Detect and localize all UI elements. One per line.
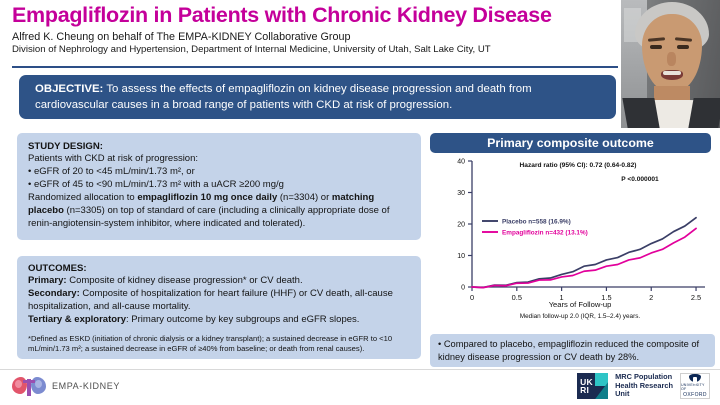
mrc-line-3: Unit [615, 390, 673, 399]
svg-text:20: 20 [457, 222, 465, 229]
svg-text:Placebo n=558 (16.9%): Placebo n=558 (16.9%) [502, 219, 571, 226]
chart-legend: Placebo n=558 (16.9%)Empagliflozin n=432… [482, 219, 588, 237]
kidney-icon [12, 375, 46, 397]
svg-text:2.5: 2.5 [691, 293, 701, 302]
summary-text: • Compared to placebo, empagliflozin red… [438, 339, 699, 362]
slide-header: Empagliflozin in Patients with Chronic K… [12, 4, 620, 55]
x-axis-label: Years of Follow-up [549, 300, 612, 309]
outcome-tertiary: Tertiary & exploratory: Primary outcome … [28, 314, 410, 327]
footer-logos: UK RI MRC Population Health Research Uni… [577, 373, 710, 399]
study-design-allocation: Randomized allocation to empagliflozin 1… [28, 192, 410, 231]
chart-series [472, 218, 696, 288]
page-title: Empagliflozin in Patients with Chronic K… [12, 4, 620, 27]
summary-panel: • Compared to placebo, empagliflozin red… [430, 334, 715, 367]
ukri-wordmark: UK RI [580, 378, 593, 394]
alloc-drug: empagliflozin 10 mg once daily [137, 192, 277, 203]
presenter-video-feed[interactable] [621, 0, 720, 128]
outcomes-footnote: *Defined as ESKD (initiation of chronic … [28, 334, 410, 354]
author-line: Alfred K. Cheung on behalf of The EMPA-K… [12, 31, 620, 44]
oxford-wordmark: OXFORD [683, 392, 707, 398]
objective-label: OBJECTIVE: [35, 83, 103, 95]
hazard-ratio-annotation: Hazard ratio (95% CI): 0.72 (0.64-0.82) [520, 162, 637, 169]
title-divider [12, 66, 618, 68]
oxford-crest-icon [689, 374, 701, 382]
median-followup-label: Median follow-up 2.0 (IQR, 1.5–2.4) year… [520, 313, 641, 320]
study-design-heading: STUDY DESIGN: [28, 141, 410, 152]
presenter-jacket-left [622, 98, 659, 128]
alloc-mid: (n=3304) or [277, 192, 332, 203]
study-design-bullet-2: • eGFR of 45 to <90 mL/min/1.73 m² with … [28, 179, 410, 192]
primary-outcome-banner: Primary composite outcome [430, 133, 711, 153]
oxford-sub-label: UNIVERSITY OF [681, 383, 709, 391]
outcome-tertiary-label: Tertiary & exploratory [28, 314, 126, 325]
mrc-unit-label: MRC Population Health Research Unit [615, 373, 673, 399]
svg-text:0: 0 [470, 293, 474, 302]
presenter-eye-left [650, 45, 662, 49]
presenter-jacket-right [688, 98, 720, 128]
alloc-pre: Randomized allocation to [28, 192, 137, 203]
svg-text:0: 0 [461, 285, 465, 292]
oxford-university-logo: UNIVERSITY OF OXFORD [680, 373, 710, 399]
svg-text:10: 10 [457, 253, 465, 260]
svg-text:2: 2 [649, 293, 653, 302]
objective-banner: OBJECTIVE: To assess the effects of empa… [19, 75, 616, 119]
outcomes-heading: OUTCOMES: [28, 263, 410, 274]
p-value-annotation: P <0.000001 [621, 176, 659, 183]
ukri-line-2: RI [580, 386, 593, 394]
outcome-primary: Primary: Composite of kidney disease pro… [28, 275, 410, 288]
slide: Empagliflozin in Patients with Chronic K… [0, 0, 720, 405]
objective-text: To assess the effects of empagliflozin o… [35, 83, 532, 111]
study-design-intro: Patients with CKD at risk of progression… [28, 153, 410, 166]
chart-svg: 010203040 00.511.522.5 Placebo n=558 (16… [430, 155, 715, 325]
kaplan-meier-chart: 010203040 00.511.522.5 Placebo n=558 (16… [430, 155, 715, 325]
svg-text:40: 40 [457, 159, 465, 166]
y-axis-ticks: 010203040 [457, 159, 472, 292]
alloc-post: (n=3305) on top of standard of care (inc… [28, 205, 389, 229]
footer-divider [0, 369, 720, 370]
outcome-secondary-text: Composite of hospitalization for heart f… [28, 288, 393, 312]
ukri-logo: UK RI [577, 373, 608, 399]
outcomes-panel: OUTCOMES: Primary: Composite of kidney d… [17, 256, 421, 359]
svg-text:0.5: 0.5 [512, 293, 522, 302]
svg-text:Empagliflozin n=432 (13.1%): Empagliflozin n=432 (13.1%) [502, 230, 588, 237]
presenter-eye-right [677, 45, 689, 49]
svg-text:30: 30 [457, 190, 465, 197]
presenter-teeth [663, 71, 681, 75]
outcome-primary-label: Primary: [28, 275, 67, 286]
empa-kidney-logo: EMPA-KIDNEY [12, 375, 120, 397]
affiliation-line: Division of Nephrology and Hypertension,… [12, 44, 620, 56]
outcome-tertiary-text: : Primary outcome by key subgroups and e… [126, 314, 359, 325]
study-design-bullet-1: • eGFR of 20 to <45 mL/min/1.73 m², or [28, 166, 410, 179]
study-design-panel: STUDY DESIGN: Patients with CKD at risk … [17, 133, 421, 240]
outcome-primary-text: Composite of kidney disease progression*… [67, 275, 303, 286]
presenter-nose [667, 52, 676, 66]
outcome-secondary-label: Secondary: [28, 288, 80, 299]
primary-outcome-title: Primary composite outcome [487, 136, 654, 150]
outcome-secondary: Secondary: Composite of hospitalization … [28, 288, 410, 314]
ukri-teal-square [595, 373, 608, 386]
empa-kidney-label: EMPA-KIDNEY [52, 381, 120, 391]
